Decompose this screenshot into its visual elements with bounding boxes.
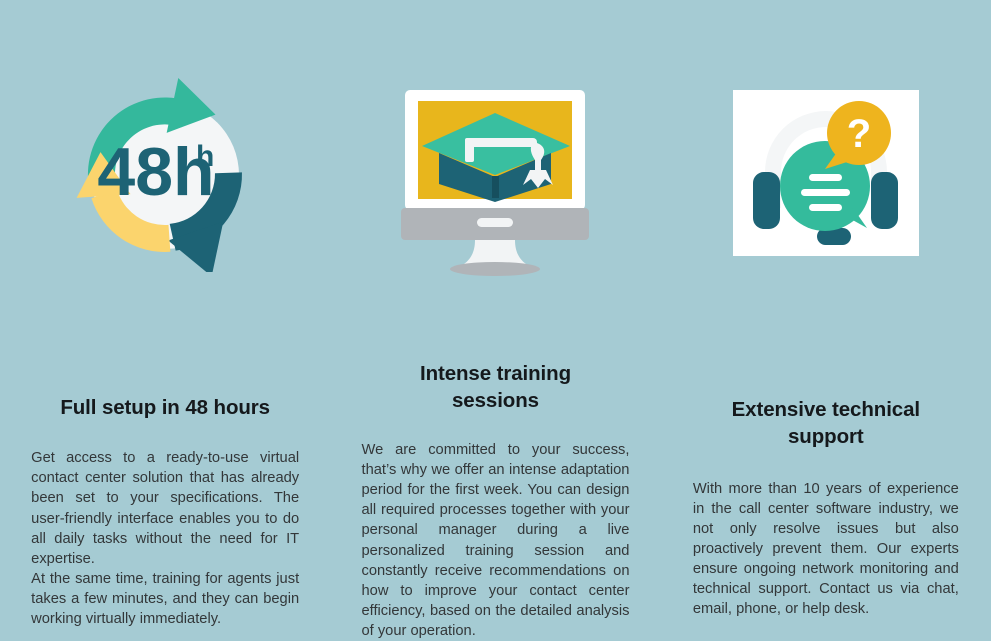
icon-48h-superscript: h xyxy=(196,140,214,173)
monitor-graduation-cap-icon xyxy=(397,90,593,280)
text-block-training: Intense training sessions We are committ… xyxy=(361,360,629,641)
icon-container-48-hours: 48h h xyxy=(0,0,330,378)
spacer xyxy=(693,451,959,479)
feature-card-setup: 48h h Full setup in 48 hours Get access … xyxy=(0,0,330,641)
spacer xyxy=(361,414,629,440)
card-title-training: Intense training sessions xyxy=(361,360,629,415)
icon-container-training xyxy=(330,0,660,356)
icon-container-support: ? xyxy=(661,0,991,390)
feature-card-training: Intense training sessions We are committ… xyxy=(330,0,660,641)
ear-cup-right-icon xyxy=(871,172,898,229)
features-columns: 48h h Full setup in 48 hours Get access … xyxy=(0,0,991,641)
48-hours-cycle-icon: 48h h xyxy=(68,78,262,272)
card-body-support: With more than 10 years of experience in… xyxy=(693,479,959,620)
paragraph: With more than 10 years of experience in… xyxy=(693,479,959,620)
headset-support-icon: ? xyxy=(733,90,919,256)
card-body-training: We are committed to your success, that’s… xyxy=(361,440,629,641)
card-title-support: Extensive technical support xyxy=(693,396,959,451)
card-body-setup: Get access to a ready-to-use virtual con… xyxy=(31,448,299,629)
feature-card-support: ? Extensive technical support With more … xyxy=(661,0,991,641)
paragraph: At the same time, training for agents ju… xyxy=(31,569,299,629)
ear-cup-left-icon xyxy=(753,172,780,229)
paragraph: We are committed to your success, that’s… xyxy=(361,440,629,641)
card-title-setup: Full setup in 48 hours xyxy=(31,394,299,421)
paragraph: Get access to a ready-to-use virtual con… xyxy=(31,448,299,569)
text-block-setup: Full setup in 48 hours Get access to a r… xyxy=(31,394,299,629)
question-mark-label: ? xyxy=(847,112,871,156)
spacer xyxy=(31,421,299,448)
text-block-support: Extensive technical support With more th… xyxy=(693,396,959,619)
features-page: 48h h Full setup in 48 hours Get access … xyxy=(0,0,991,641)
